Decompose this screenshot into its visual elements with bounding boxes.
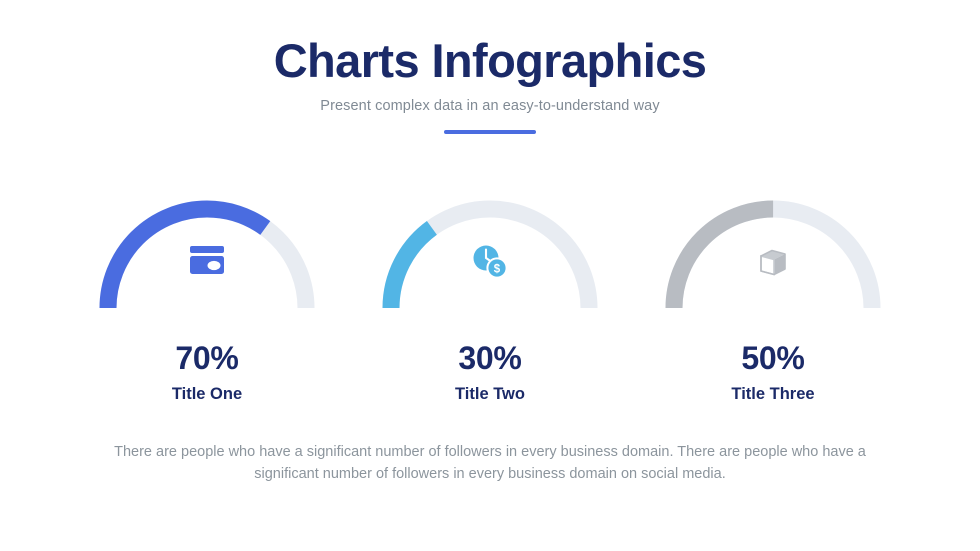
- gauge-value-1: 70%: [175, 342, 238, 374]
- title-divider-wrap: [0, 130, 980, 134]
- gauge-row: 70% Title One $ 30% T: [0, 186, 980, 403]
- svg-text:$: $: [494, 263, 501, 275]
- page-subtitle: Present complex data in an easy-to-under…: [0, 98, 980, 114]
- slide-canvas: Charts Infographics Present complex data…: [0, 0, 980, 551]
- page-title: Charts Infographics: [0, 36, 980, 86]
- gauge-title-1: Title One: [172, 386, 242, 403]
- gauge-icon-wrap-1: [92, 242, 322, 278]
- gauge-icon-wrap-3: [658, 242, 888, 282]
- gauge-value-2: 30%: [458, 342, 521, 374]
- title-underline-bar: [444, 130, 536, 134]
- gauge-card-1[interactable]: 70% Title One: [66, 186, 349, 403]
- gauge-value-3: 50%: [741, 342, 804, 374]
- package-box-icon: [753, 242, 793, 282]
- gauge-card-3[interactable]: 50% Title Three: [632, 186, 915, 403]
- slide-header: Charts Infographics Present complex data…: [0, 36, 980, 134]
- gauge-card-2[interactable]: $ 30% Title Two: [349, 186, 632, 403]
- footer-paragraph: There are people who have a significant …: [80, 442, 900, 486]
- clock-money-icon: $: [469, 242, 511, 280]
- credit-card-icon: [185, 242, 229, 278]
- gauge-chart-2: $: [375, 186, 605, 316]
- gauge-chart-1: [92, 186, 322, 316]
- gauge-icon-wrap-2: $: [375, 242, 605, 280]
- gauge-title-3: Title Three: [731, 386, 814, 403]
- gauge-chart-3: [658, 186, 888, 316]
- gauge-title-2: Title Two: [455, 386, 525, 403]
